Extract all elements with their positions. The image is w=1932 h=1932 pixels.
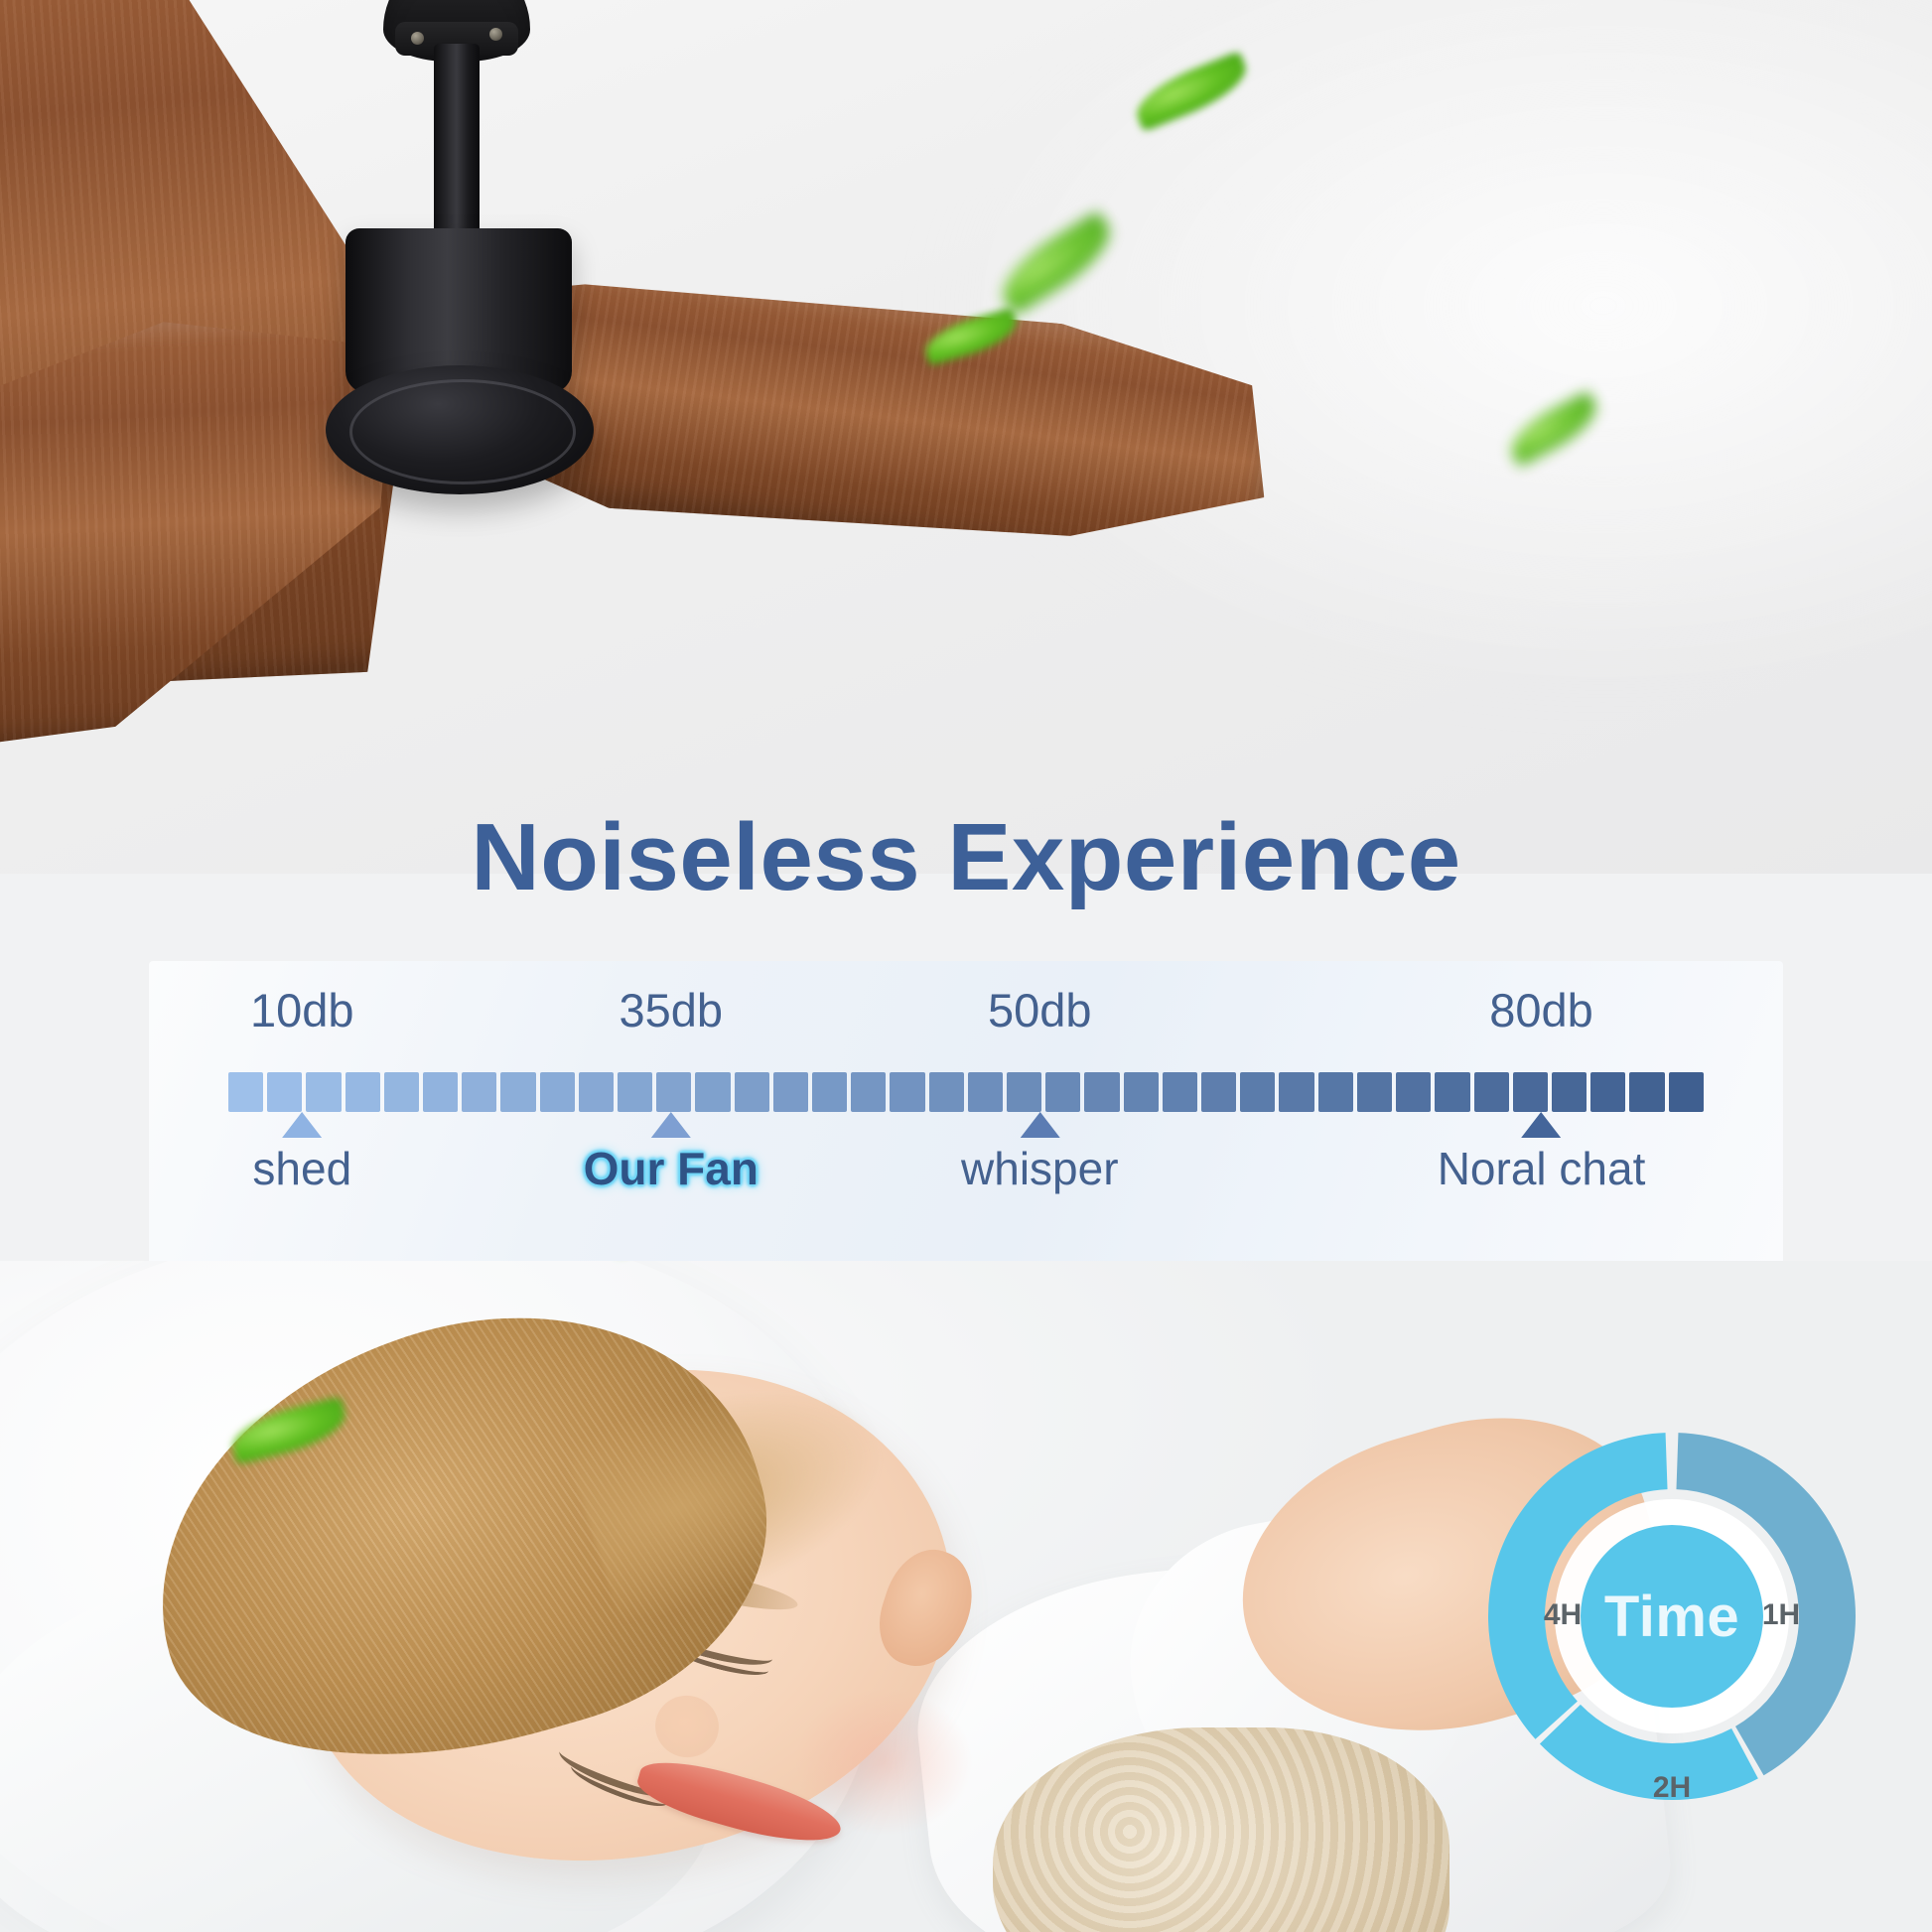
- decibel-marker[interactable]: whisper: [961, 1112, 1119, 1195]
- decibel-segment: [228, 1072, 263, 1112]
- timer-ring-svg: 1H 2H 4H: [1424, 1368, 1920, 1864]
- decibel-segment: [656, 1072, 691, 1112]
- decibel-segment: [462, 1072, 496, 1112]
- screw-icon: [489, 28, 502, 41]
- ceiling-fan: [0, 0, 1932, 755]
- decibel-marker-label: shed: [252, 1142, 351, 1195]
- screw-icon: [411, 32, 424, 45]
- decibel-segment: [1318, 1072, 1353, 1112]
- decibel-segment: [1357, 1072, 1392, 1112]
- decibel-segment: [1590, 1072, 1625, 1112]
- decibel-segment: [1513, 1072, 1548, 1112]
- decibel-segment: [267, 1072, 302, 1112]
- decibel-segment: [1552, 1072, 1587, 1112]
- decibel-segment: [1240, 1072, 1275, 1112]
- fan-downrod: [434, 44, 480, 242]
- decibel-marker-label: Our Fan: [584, 1142, 759, 1195]
- timer-center-disc: [1581, 1525, 1763, 1708]
- decibel-scale-label: 50db: [988, 983, 1092, 1037]
- decibel-segment: [1474, 1072, 1509, 1112]
- decibel-segment: [1163, 1072, 1197, 1112]
- decibel-segment: [423, 1072, 458, 1112]
- marker-arrow-icon: [1522, 1112, 1562, 1138]
- decibel-scale-label: 10db: [250, 983, 354, 1037]
- hero-fan-photo: [0, 0, 1932, 874]
- decibel-segment: [1201, 1072, 1236, 1112]
- sleeping-child-photo: 1H 2H 4H Time: [0, 1261, 1932, 1932]
- decibel-segment: [968, 1072, 1003, 1112]
- decibel-scale-label: 80db: [1489, 983, 1593, 1037]
- decibel-segment: [345, 1072, 380, 1112]
- decibel-segment: [1007, 1072, 1041, 1112]
- decibel-segment: [1279, 1072, 1313, 1112]
- decibel-segment: [306, 1072, 341, 1112]
- product-marketing-image: Noiseless Experience 10db35db50db80db sh…: [0, 0, 1932, 1932]
- page-title: Noiseless Experience: [0, 810, 1932, 905]
- ring-label-1h: 1H: [1762, 1598, 1800, 1631]
- decibel-segment: [500, 1072, 535, 1112]
- marker-arrow-icon: [1020, 1112, 1059, 1138]
- decibel-segment: [618, 1072, 652, 1112]
- decibel-segment: [890, 1072, 924, 1112]
- decibel-meter-panel: 10db35db50db80db shedOur FanwhisperNoral…: [149, 961, 1783, 1267]
- decibel-scale-labels: 10db35db50db80db: [149, 983, 1783, 1042]
- decibel-segment: [1124, 1072, 1159, 1112]
- timer-donut-chart: 1H 2H 4H Time: [1424, 1368, 1920, 1864]
- decibel-segment: [812, 1072, 847, 1112]
- fan-hub-ring: [349, 379, 576, 484]
- decibel-segment: [929, 1072, 964, 1112]
- marker-arrow-icon: [651, 1112, 691, 1138]
- decibel-segment: [540, 1072, 575, 1112]
- decibel-gradient-bar: [228, 1072, 1704, 1112]
- decibel-markers: shedOur FanwhisperNoral chat: [149, 1112, 1783, 1241]
- decibel-segment: [384, 1072, 419, 1112]
- decibel-marker[interactable]: Our Fan: [584, 1112, 759, 1195]
- decibel-segment: [1435, 1072, 1469, 1112]
- decibel-segment: [1669, 1072, 1704, 1112]
- decibel-segment: [735, 1072, 769, 1112]
- ring-label-4h: 4H: [1544, 1598, 1582, 1631]
- decibel-segment: [1629, 1072, 1664, 1112]
- decibel-marker[interactable]: Noral chat: [1438, 1112, 1646, 1195]
- marker-arrow-icon: [282, 1112, 322, 1138]
- decibel-segment: [773, 1072, 808, 1112]
- decibel-segment: [1084, 1072, 1119, 1112]
- decibel-segment: [579, 1072, 614, 1112]
- decibel-segment: [1396, 1072, 1431, 1112]
- decibel-marker-label: whisper: [961, 1142, 1119, 1195]
- decibel-segment: [1045, 1072, 1080, 1112]
- decibel-segment: [851, 1072, 886, 1112]
- decibel-marker-label: Noral chat: [1438, 1142, 1646, 1195]
- ring-label-2h: 2H: [1653, 1771, 1691, 1804]
- decibel-marker[interactable]: shed: [252, 1112, 351, 1195]
- decibel-scale-label: 35db: [620, 983, 724, 1037]
- decibel-segment: [695, 1072, 730, 1112]
